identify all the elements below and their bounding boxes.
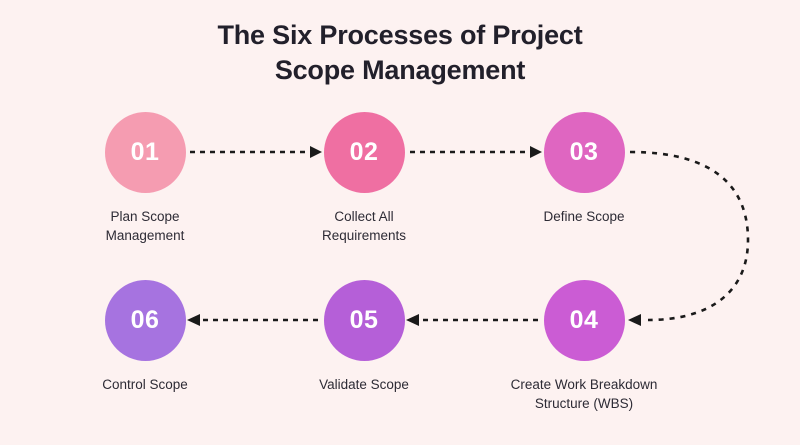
step-label-01-line-2: Management: [60, 226, 230, 245]
step-label-04-line-1: Create Work Breakdown: [469, 375, 699, 394]
step-number-01: 01: [131, 140, 160, 165]
page-title-line-2: Scope Management: [0, 53, 800, 88]
step-number-03: 03: [570, 140, 599, 165]
process-step-04[interactable]: 04 Create Work Breakdown Structure (WBS): [499, 280, 669, 413]
step-circle-05[interactable]: 05: [324, 280, 405, 361]
step-label-04: Create Work Breakdown Structure (WBS): [469, 375, 699, 413]
step-label-01-line-1: Plan Scope: [60, 207, 230, 226]
page-title-line-1: The Six Processes of Project: [0, 18, 800, 53]
step-label-01: Plan Scope Management: [60, 207, 230, 245]
step-label-04-line-2: Structure (WBS): [469, 394, 699, 413]
process-step-03[interactable]: 03 Define Scope: [499, 112, 669, 226]
step-number-04: 04: [570, 308, 599, 333]
step-number-05: 05: [350, 308, 379, 333]
step-label-05-line-1: Validate Scope: [279, 375, 449, 394]
process-step-06[interactable]: 06 Control Scope: [60, 280, 230, 394]
step-label-06-line-1: Control Scope: [60, 375, 230, 394]
step-circle-01[interactable]: 01: [105, 112, 186, 193]
process-step-05[interactable]: 05 Validate Scope: [279, 280, 449, 394]
step-label-06: Control Scope: [60, 375, 230, 394]
step-circle-06[interactable]: 06: [105, 280, 186, 361]
step-label-02-line-2: Requirements: [279, 226, 449, 245]
step-circle-04[interactable]: 04: [544, 280, 625, 361]
step-label-03-line-1: Define Scope: [499, 207, 669, 226]
step-circle-02[interactable]: 02: [324, 112, 405, 193]
process-step-01[interactable]: 01 Plan Scope Management: [60, 112, 230, 245]
step-number-02: 02: [350, 140, 379, 165]
step-label-02-line-1: Collect All: [279, 207, 449, 226]
step-label-05: Validate Scope: [279, 375, 449, 394]
page-title: The Six Processes of Project Scope Manag…: [0, 18, 800, 88]
step-label-03: Define Scope: [499, 207, 669, 226]
step-label-02: Collect All Requirements: [279, 207, 449, 245]
process-step-02[interactable]: 02 Collect All Requirements: [279, 112, 449, 245]
step-circle-03[interactable]: 03: [544, 112, 625, 193]
infographic-canvas: The Six Processes of Project Scope Manag…: [0, 0, 800, 445]
step-number-06: 06: [131, 308, 160, 333]
